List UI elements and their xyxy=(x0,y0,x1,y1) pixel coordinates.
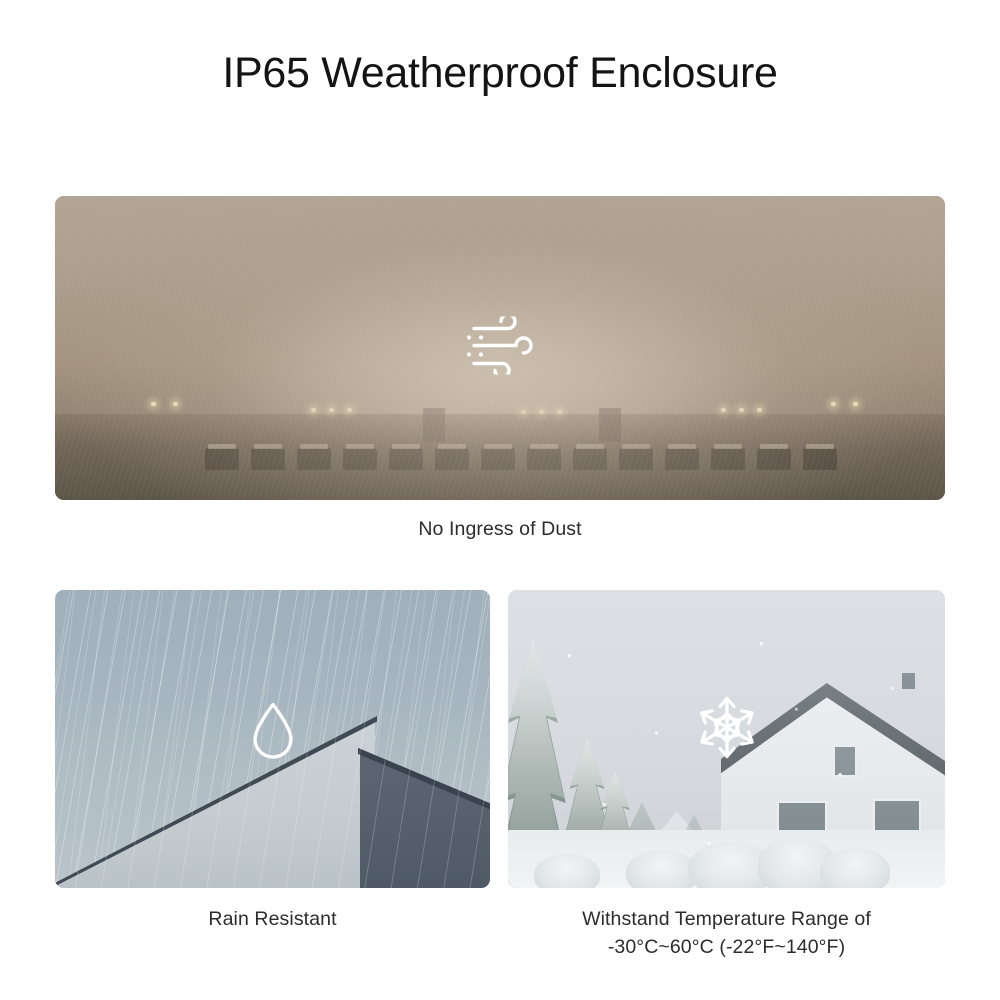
feature-caption-temperature: Withstand Temperature Range of -30°C~60°… xyxy=(508,906,945,961)
rain-scene xyxy=(55,590,490,888)
snow-fog-layer xyxy=(508,590,945,888)
feature-caption-rain: Rain Resistant xyxy=(55,906,490,934)
feature-image-dust xyxy=(55,196,945,500)
dust-scene xyxy=(55,196,945,500)
feature-caption-dust: No Ingress of Dust xyxy=(55,516,945,544)
page-title: IP65 Weatherproof Enclosure xyxy=(0,50,1000,97)
caption-line-1: Withstand Temperature Range of xyxy=(508,906,945,934)
caption-line-2: -30°C~60°C (-22°F~140°F) xyxy=(508,934,945,962)
feature-image-snow xyxy=(508,590,945,888)
snow-scene xyxy=(508,590,945,888)
blowing-dust-veil xyxy=(55,196,945,500)
feature-image-rain xyxy=(55,590,490,888)
product-feature-page: IP65 Weatherproof Enclosure xyxy=(0,0,1000,1000)
